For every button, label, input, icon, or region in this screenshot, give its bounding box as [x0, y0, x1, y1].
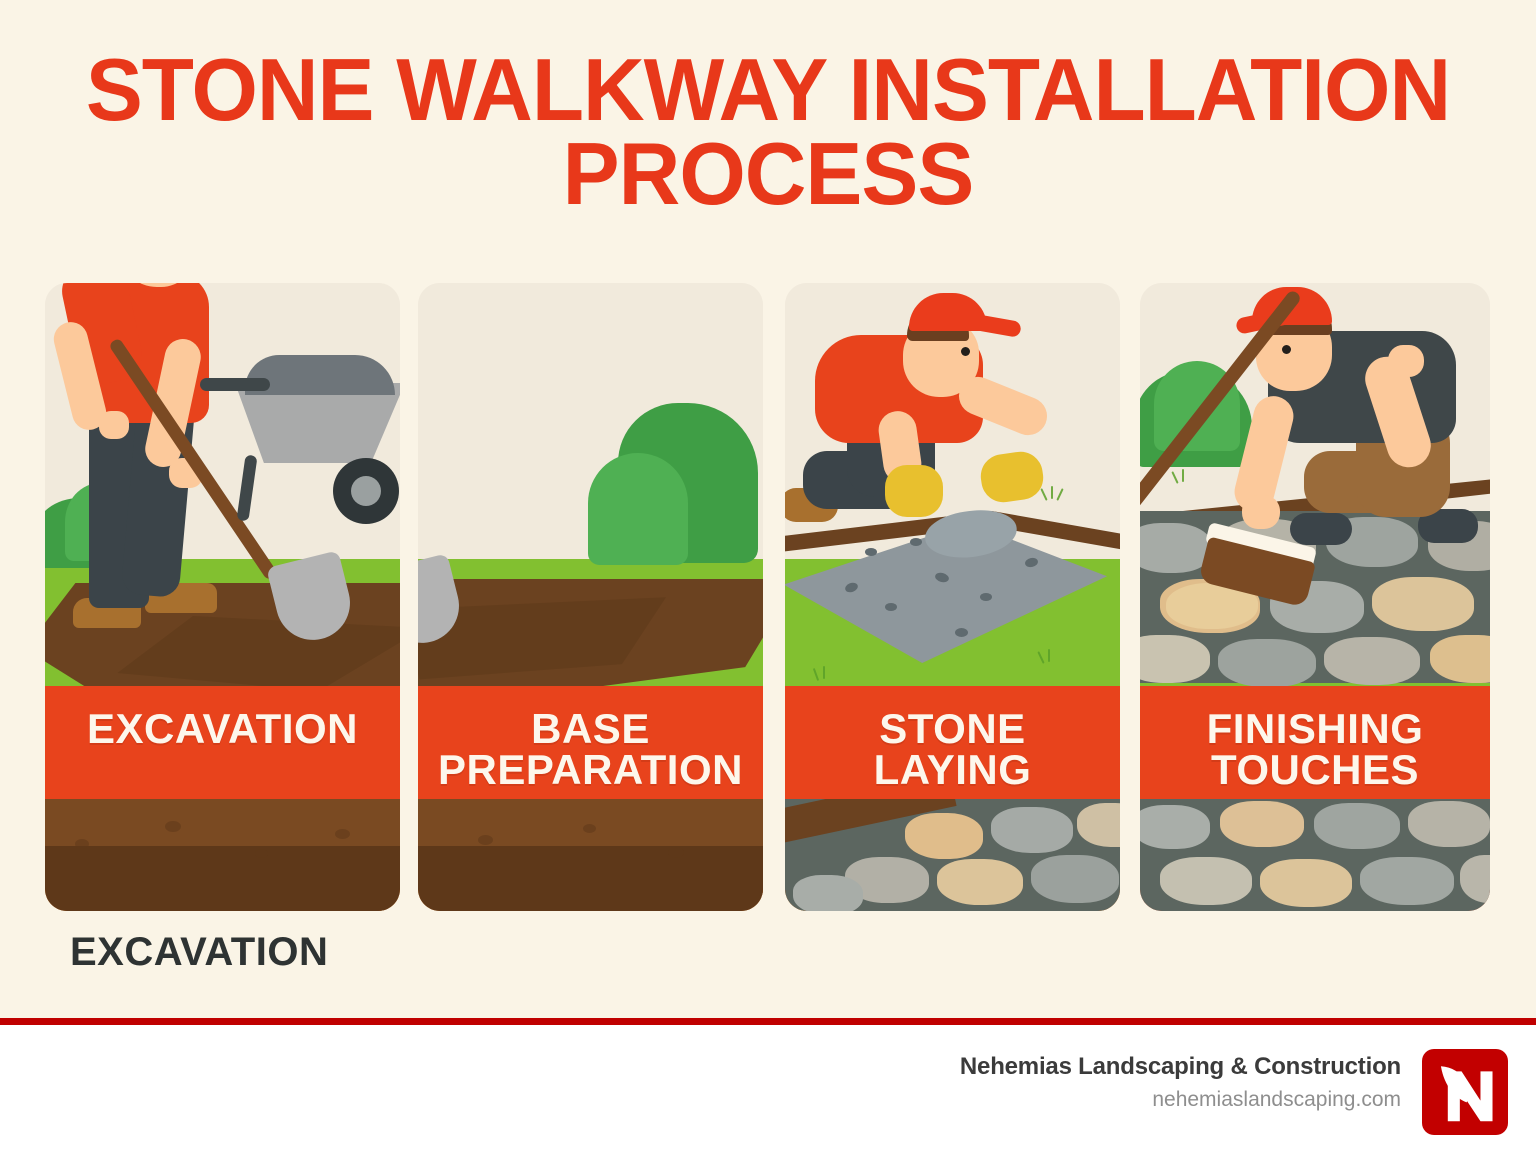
step-card-base-preparation[interactable]: BASE PREPARATION	[418, 283, 763, 911]
step-label: FINISHING TOUCHES	[1207, 708, 1424, 790]
shrub-icon	[588, 453, 688, 565]
step-card-finishing-touches[interactable]: FINISHING TOUCHES	[1140, 283, 1490, 911]
company-logo[interactable]	[1422, 1049, 1508, 1135]
gravel-speck	[865, 548, 877, 556]
step-caption: EXCAVATION	[70, 930, 328, 975]
wheelbarrow-handle	[200, 378, 270, 391]
footer-text-block: Nehemias Landscaping & Construction nehe…	[960, 1053, 1401, 1112]
grass-tuft-icon	[1051, 486, 1053, 499]
worker-eye	[961, 347, 970, 356]
finished-walkway-strip	[1140, 799, 1490, 911]
finished-walkway-strip	[785, 799, 1120, 911]
gravel-speck	[910, 538, 922, 546]
worker-hand	[99, 411, 129, 439]
worker-boot	[1290, 513, 1352, 545]
worker-hand	[1388, 345, 1424, 377]
step-label: BASE PREPARATION	[438, 708, 743, 790]
step-card-excavation[interactable]: EXCAVATION	[45, 283, 400, 911]
soil-layer	[45, 799, 400, 911]
wheelbarrow-hub	[351, 476, 381, 506]
step-card-stone-laying[interactable]: STONE LAYING	[785, 283, 1120, 911]
wheelbarrow-tray	[235, 383, 400, 463]
poster-canvas: STONE WALKWAY INSTALLATION PROCESS	[0, 0, 1536, 1022]
worker-glove	[885, 465, 943, 517]
page-title: STONE WALKWAY INSTALLATION PROCESS	[23, 48, 1513, 217]
footer-divider	[0, 1018, 1536, 1025]
grass-tuft-icon	[1048, 649, 1050, 662]
soil-layer	[418, 799, 763, 911]
footer: Nehemias Landscaping & Construction nehe…	[0, 1025, 1536, 1154]
worker-eye	[1282, 345, 1291, 354]
step-label: STONE LAYING	[874, 708, 1032, 790]
company-name: Nehemias Landscaping & Construction	[960, 1053, 1401, 1081]
grass-tuft-icon	[1182, 469, 1184, 482]
company-website[interactable]: nehemiaslandscaping.com	[960, 1088, 1401, 1112]
gravel-speck	[885, 603, 897, 611]
grass-tuft-icon	[823, 666, 825, 679]
step-label: EXCAVATION	[87, 708, 358, 749]
process-steps: EXCAVATION	[0, 283, 1536, 911]
gravel-speck	[955, 628, 968, 637]
worker-hand	[1242, 495, 1280, 529]
gravel-speck	[980, 593, 992, 601]
